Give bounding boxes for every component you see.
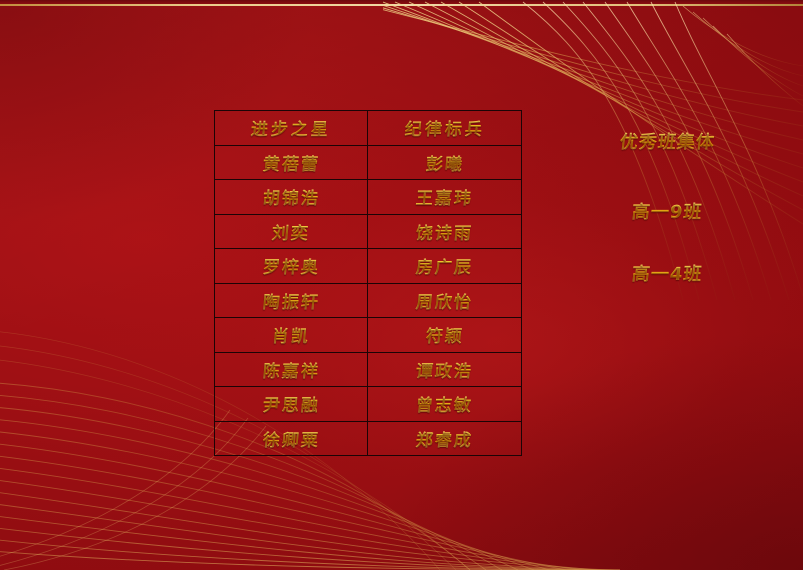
student-name: 符颖	[424, 322, 464, 347]
presentation-slide: 进步之星 纪律标兵 黄蓓蕾 彭曦 胡锦浩 王嘉玮 刘奕 饶诗雨 罗梓奥 房广辰	[0, 0, 803, 570]
table-row: 尹思融 曾志敏	[215, 387, 522, 422]
student-name: 胡锦浩	[261, 184, 320, 209]
table-row: 黄蓓蕾 彭曦	[215, 145, 522, 180]
outstanding-class-panel: 优秀班集体 高一9班 高一4班	[560, 128, 775, 322]
header-label-progress-star: 进步之星	[250, 115, 332, 140]
table-cell-progress-star: 罗梓奥	[215, 249, 368, 284]
table-cell-discipline-model: 彭曦	[368, 145, 522, 180]
student-name: 谭政浩	[415, 357, 474, 382]
table-cell-discipline-model: 房广辰	[368, 249, 522, 284]
table-row: 刘奕 饶诗雨	[215, 214, 522, 249]
table-cell-discipline-model: 曾志敏	[368, 387, 522, 422]
top-gold-rule	[0, 4, 803, 6]
table-cell-progress-star: 肖凯	[215, 318, 368, 353]
table-row: 徐卿粟 郑睿成	[215, 421, 522, 456]
table-cell-progress-star: 胡锦浩	[215, 180, 368, 215]
table-row: 肖凯 符颖	[215, 318, 522, 353]
table-cell-progress-star: 徐卿粟	[215, 421, 368, 456]
table-row: 胡锦浩 王嘉玮	[215, 180, 522, 215]
table-cell-discipline-model: 饶诗雨	[368, 214, 522, 249]
table-header-cell-progress-star: 进步之星	[215, 111, 368, 146]
table-cell-progress-star: 黄蓓蕾	[215, 145, 368, 180]
table-cell-discipline-model: 王嘉玮	[368, 180, 522, 215]
student-name: 曾志敏	[415, 391, 474, 416]
table-cell-progress-star: 陶振轩	[215, 283, 368, 318]
outstanding-class-item-1: 高一9班	[560, 198, 775, 224]
table-cell-discipline-model: 郑睿成	[368, 421, 522, 456]
student-name: 饶诗雨	[415, 219, 474, 244]
table-row: 陈嘉祥 谭政浩	[215, 352, 522, 387]
outstanding-class-item-label: 高一9班	[631, 198, 704, 224]
student-name: 刘奕	[271, 219, 311, 244]
student-name: 陈嘉祥	[261, 357, 320, 382]
student-name: 彭曦	[424, 150, 464, 175]
table-cell-discipline-model: 符颖	[368, 318, 522, 353]
table-header-cell-discipline-model: 纪律标兵	[368, 111, 522, 146]
header-label-discipline-model: 纪律标兵	[403, 115, 485, 140]
student-name: 黄蓓蕾	[261, 150, 320, 175]
outstanding-class-item-label: 高一4班	[631, 260, 704, 286]
outstanding-class-title-label: 优秀班集体	[619, 128, 717, 154]
student-name: 郑睿成	[415, 426, 474, 451]
student-name: 罗梓奥	[261, 253, 320, 278]
table-row: 陶振轩 周欣怡	[215, 283, 522, 318]
student-name: 徐卿粟	[261, 426, 320, 451]
outstanding-class-title: 优秀班集体	[560, 128, 775, 154]
table-cell-progress-star: 刘奕	[215, 214, 368, 249]
table-header-row: 进步之星 纪律标兵	[215, 111, 522, 146]
student-name: 周欣怡	[415, 288, 474, 313]
student-name: 尹思融	[261, 391, 320, 416]
student-name: 陶振轩	[261, 288, 320, 313]
outstanding-class-item-2: 高一4班	[560, 260, 775, 286]
table-cell-progress-star: 尹思融	[215, 387, 368, 422]
table-cell-discipline-model: 周欣怡	[368, 283, 522, 318]
table-cell-progress-star: 陈嘉祥	[215, 352, 368, 387]
student-name: 肖凯	[271, 322, 311, 347]
student-name: 王嘉玮	[415, 184, 474, 209]
award-roster-table: 进步之星 纪律标兵 黄蓓蕾 彭曦 胡锦浩 王嘉玮 刘奕 饶诗雨 罗梓奥 房广辰	[214, 110, 522, 456]
table-row: 罗梓奥 房广辰	[215, 249, 522, 284]
student-name: 房广辰	[415, 253, 474, 278]
table-cell-discipline-model: 谭政浩	[368, 352, 522, 387]
